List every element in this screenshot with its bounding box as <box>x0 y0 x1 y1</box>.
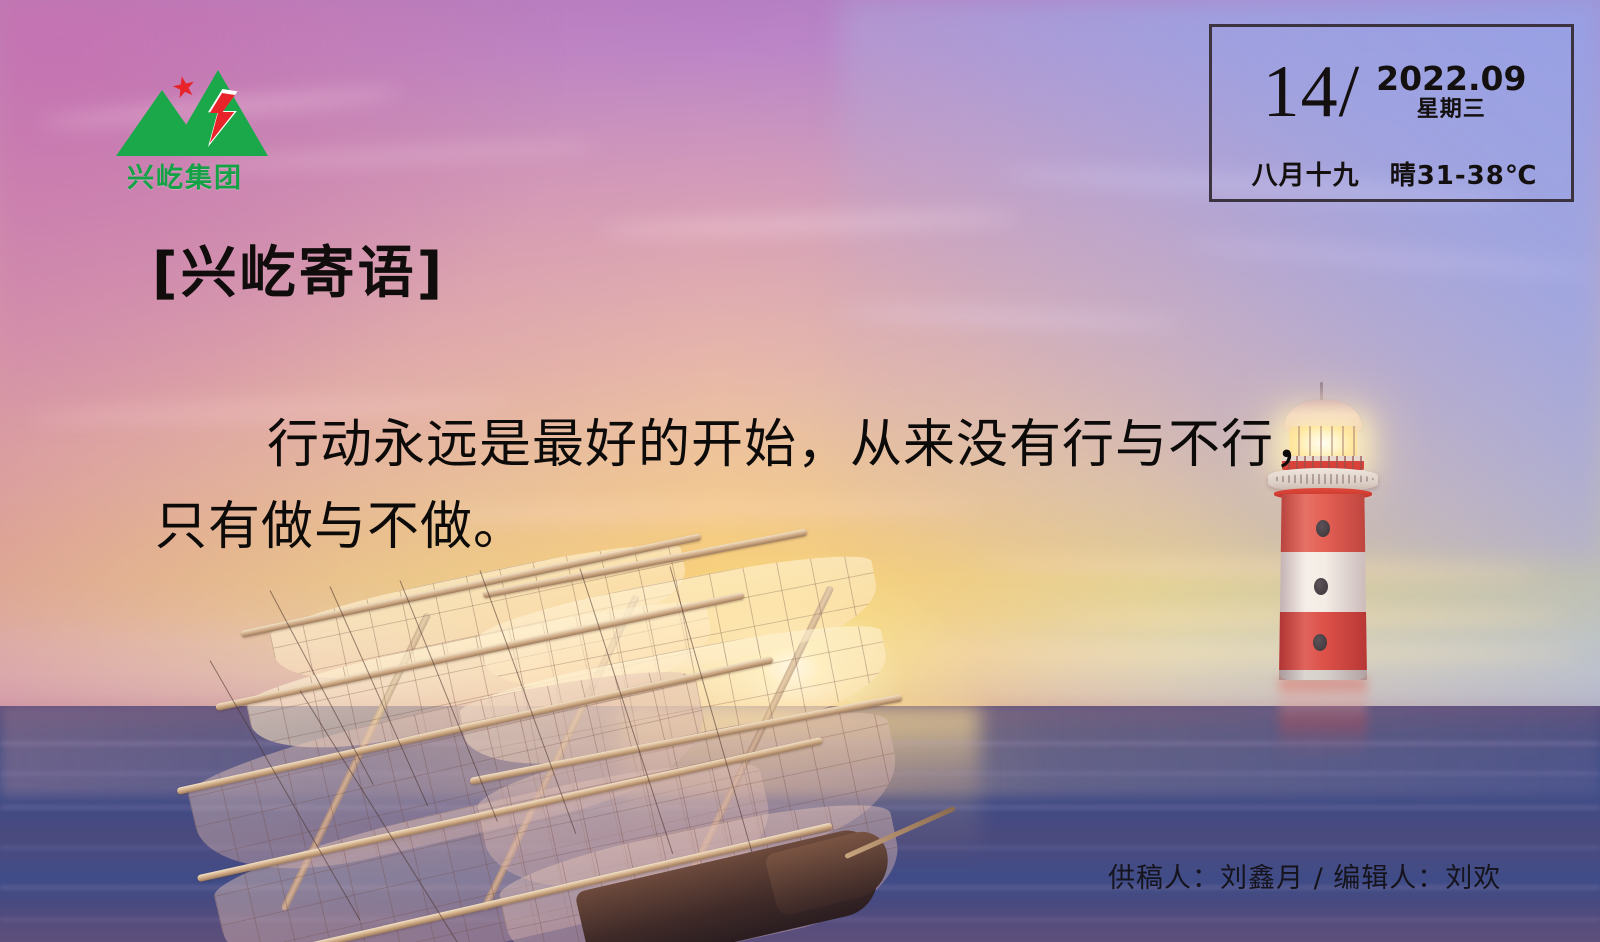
date-lunar: 八月十九 <box>1252 155 1360 192</box>
lighthouse-water-reflection <box>1279 678 1367 764</box>
poster-canvas: 兴屹集团 14/ 2022.09 星期三 八月十九 晴31-38℃ [兴屹寄语]… <box>0 0 1600 942</box>
date-card-top-row: 14/ 2022.09 星期三 <box>1212 53 1577 149</box>
page-title: [兴屹寄语] <box>152 228 445 309</box>
logo-company-name: 兴屹集团 <box>110 156 260 195</box>
weather-info: 晴31-38℃ <box>1390 155 1538 192</box>
date-weekday: 星期三 <box>1376 97 1526 123</box>
date-slash: / <box>1339 51 1361 133</box>
cloud-wisp <box>880 648 1580 660</box>
credits-line: 供稿人：刘鑫月 / 编辑人：刘欢 <box>1108 856 1501 895</box>
company-logo: 兴屹集团 <box>110 52 260 177</box>
lighthouse-window <box>1313 634 1327 651</box>
date-card-right-col: 2022.09 星期三 <box>1376 61 1526 123</box>
date-day-value: 14 <box>1263 51 1339 133</box>
lighthouse-window <box>1314 578 1328 595</box>
date-card-bottom-row: 八月十九 晴31-38℃ <box>1212 155 1577 192</box>
quote-text: 行动永远是最好的开始，从来没有行与不行，只有做与不做。 <box>155 404 1335 568</box>
date-year-month: 2022.09 <box>1376 61 1526 97</box>
date-card: 14/ 2022.09 星期三 八月十九 晴31-38℃ <box>1209 24 1574 202</box>
date-day-number: 14/ <box>1263 55 1361 129</box>
tall-ship <box>150 540 910 942</box>
